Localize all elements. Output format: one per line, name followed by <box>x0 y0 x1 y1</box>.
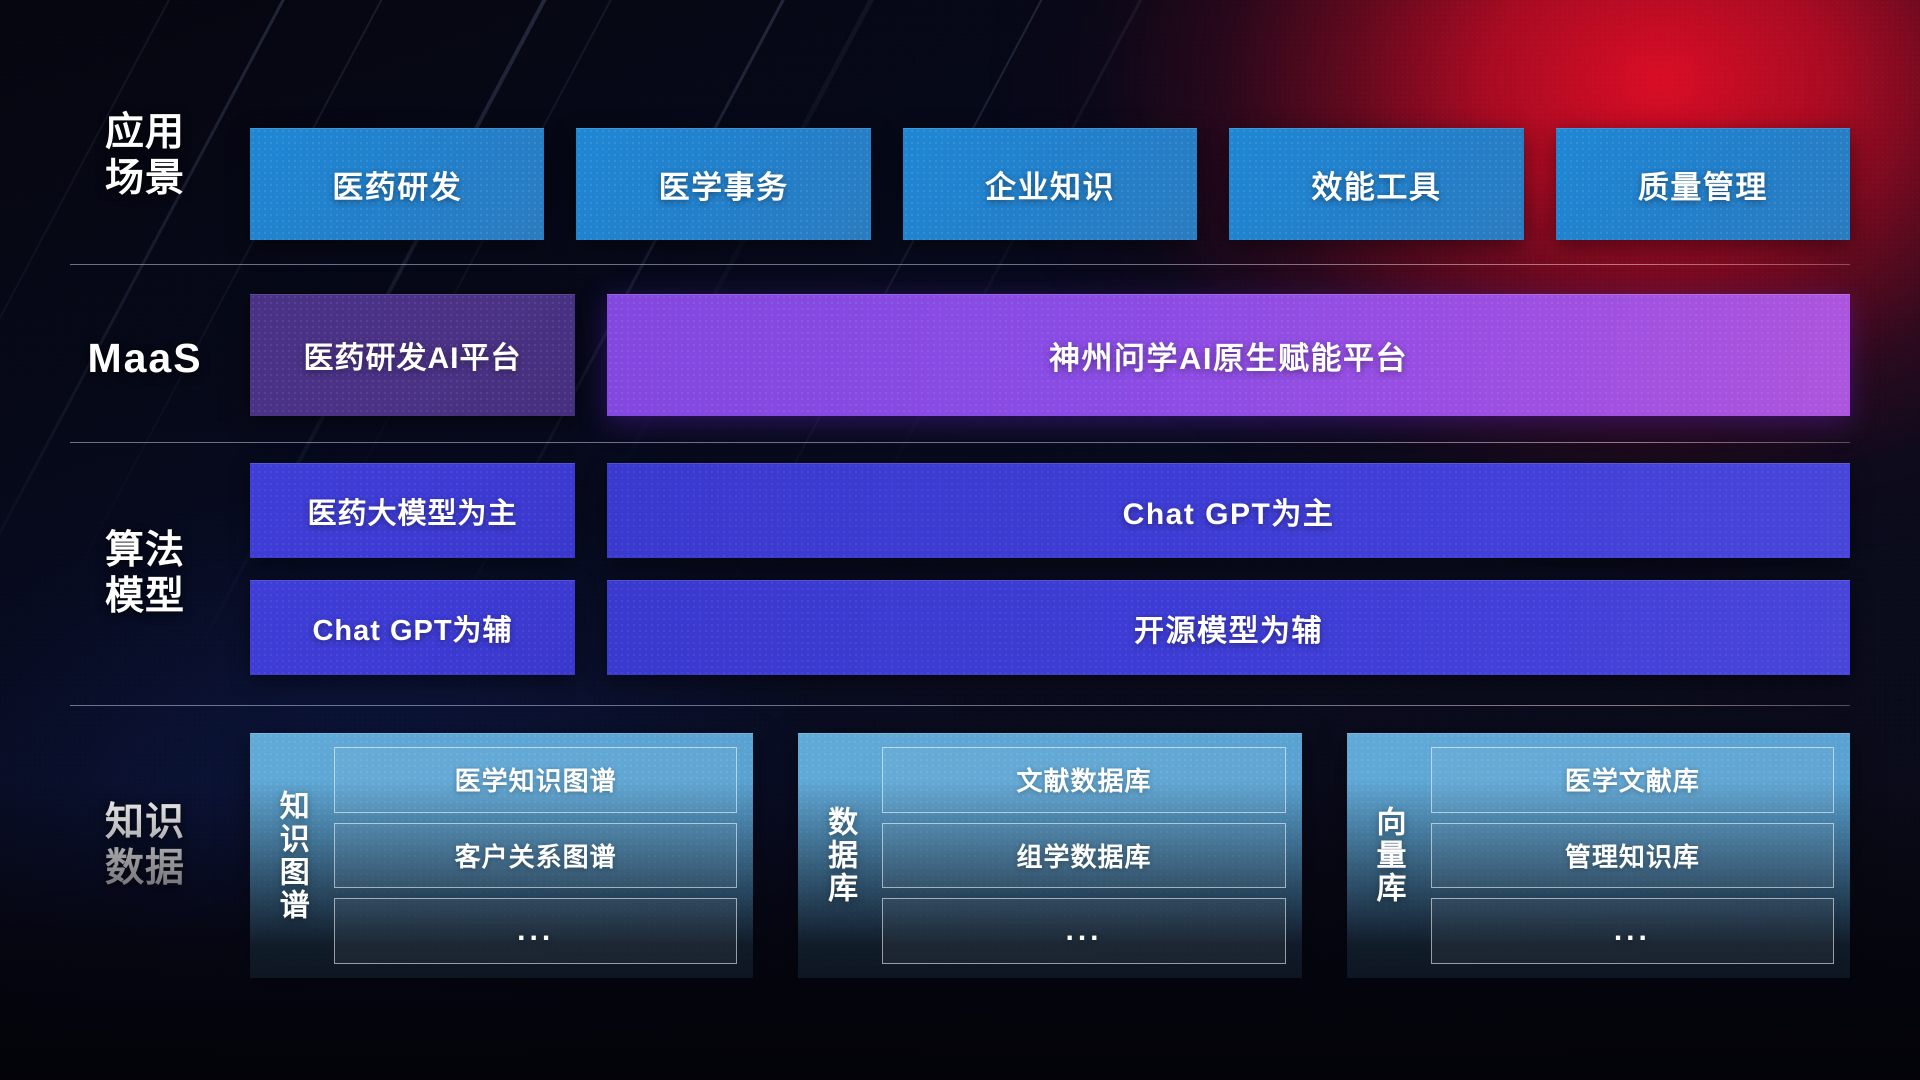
algo-box-medicine-llm-primary[interactable]: 医药大模型为主 <box>250 463 575 558</box>
knowledge-panel-title: 数据库 <box>808 747 870 964</box>
knowledge-item-more[interactable]: ... <box>882 898 1285 964</box>
knowledge-item[interactable]: 组学数据库 <box>882 823 1285 889</box>
knowledge-item-list: 医学文献库 管理知识库 ... <box>1431 747 1834 964</box>
knowledge-item[interactable]: 客户关系图谱 <box>334 823 737 889</box>
slide-canvas: 应用场景 医药研发 医学事务 企业知识 效能工具 质量管理 MaaS 医药研发A… <box>0 0 1920 1080</box>
algo-box-opensource-secondary[interactable]: 开源模型为辅 <box>607 580 1850 675</box>
divider-maas-algorithms <box>70 442 1850 443</box>
maas-box-label: 神州问学AI原生赋能平台 <box>1049 333 1408 378</box>
app-box-label: 企业知识 <box>985 162 1115 207</box>
knowledge-item-more[interactable]: ... <box>334 898 737 964</box>
row-algorithms: 医药大模型为主 Chat GPT为主 Chat GPT为辅 开源模型为辅 <box>250 463 1850 675</box>
maas-box-shenzhou-wenxue-platform[interactable]: 神州问学AI原生赋能平台 <box>607 294 1850 416</box>
diagram-content: 应用场景 医药研发 医学事务 企业知识 效能工具 质量管理 MaaS 医药研发A… <box>0 0 1920 1080</box>
app-box-medical-affairs[interactable]: 医学事务 <box>576 128 870 240</box>
app-box-medicine-rd[interactable]: 医药研发 <box>250 128 544 240</box>
maas-box-label: 医药研发AI平台 <box>304 333 522 377</box>
knowledge-panel-title: 知识图谱 <box>260 747 322 964</box>
divider-applications-maas <box>70 264 1850 265</box>
algorithm-line-primary: 医药大模型为主 Chat GPT为主 <box>250 463 1850 558</box>
maas-box-medicine-ai-platform[interactable]: 医药研发AI平台 <box>250 294 575 416</box>
row-maas: 医药研发AI平台 神州问学AI原生赋能平台 <box>250 294 1850 416</box>
row-label-algorithms: 算法模型 <box>70 528 220 620</box>
knowledge-item-more[interactable]: ... <box>1431 898 1834 964</box>
algorithm-line-secondary: Chat GPT为辅 开源模型为辅 <box>250 580 1850 675</box>
row-label-applications: 应用场景 <box>70 110 220 202</box>
algo-box-label: 开源模型为辅 <box>1134 606 1323 650</box>
app-box-label: 医学事务 <box>659 162 789 207</box>
knowledge-item[interactable]: 管理知识库 <box>1431 823 1834 889</box>
knowledge-item[interactable]: 文献数据库 <box>882 747 1285 813</box>
app-box-label: 效能工具 <box>1311 162 1441 207</box>
app-box-quality-management[interactable]: 质量管理 <box>1556 128 1850 240</box>
algo-box-chatgpt-secondary[interactable]: Chat GPT为辅 <box>250 580 575 675</box>
algo-box-label: Chat GPT为主 <box>1123 489 1335 533</box>
algo-box-label: Chat GPT为辅 <box>312 607 512 649</box>
row-label-maas: MaaS <box>70 334 220 382</box>
algo-box-label: 医药大模型为主 <box>307 490 517 532</box>
knowledge-item-list: 医学知识图谱 客户关系图谱 ... <box>334 747 737 964</box>
row-knowledge: 知识图谱 医学知识图谱 客户关系图谱 ... 数据库 文献数据库 组学数据库 .… <box>250 733 1850 978</box>
knowledge-item-list: 文献数据库 组学数据库 ... <box>882 747 1285 964</box>
row-applications: 医药研发 医学事务 企业知识 效能工具 质量管理 <box>250 128 1850 240</box>
app-box-efficiency-tools[interactable]: 效能工具 <box>1229 128 1523 240</box>
knowledge-item[interactable]: 医学文献库 <box>1431 747 1834 813</box>
app-box-label: 医药研发 <box>332 162 462 207</box>
knowledge-panel-title: 向量库 <box>1357 747 1419 964</box>
algo-box-chatgpt-primary[interactable]: Chat GPT为主 <box>607 463 1850 558</box>
divider-algorithms-knowledge <box>70 705 1850 706</box>
app-box-enterprise-knowledge[interactable]: 企业知识 <box>903 128 1197 240</box>
app-box-label: 质量管理 <box>1638 162 1768 207</box>
knowledge-item[interactable]: 医学知识图谱 <box>334 747 737 813</box>
